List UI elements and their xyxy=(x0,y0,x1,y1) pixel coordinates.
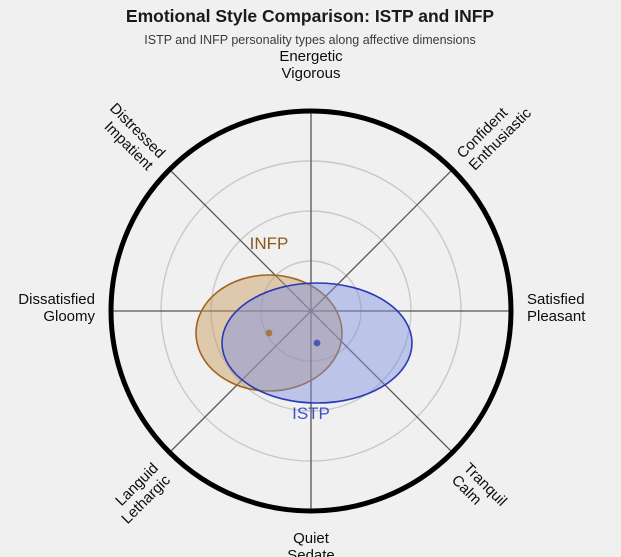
svg-text:SatisfiedPleasant: SatisfiedPleasant xyxy=(527,291,586,325)
centroid-dot-infp xyxy=(266,330,273,337)
emotion-circumplex-chart: Emotional Style Comparison: ISTP and INF… xyxy=(0,0,621,557)
axis-label-quiet-sedate: QuietSedate xyxy=(287,530,335,557)
series-label-istp: ISTP xyxy=(292,404,330,423)
axis-label-line2: Vigorous xyxy=(282,65,341,82)
axis-label-line1: Quiet xyxy=(293,530,330,547)
series-label-infp: INFP xyxy=(250,234,289,253)
svg-text:QuietSedate: QuietSedate xyxy=(287,530,335,557)
page-subtitle: ISTP and INFP personality types along af… xyxy=(144,33,475,47)
axis-label-energetic-vigorous: EnergeticVigorous xyxy=(279,48,343,82)
axis-label-line2: Pleasant xyxy=(527,308,586,325)
axis-label-line1: Energetic xyxy=(279,48,343,65)
svg-text:EnergeticVigorous: EnergeticVigorous xyxy=(279,48,343,82)
axis-label-line1: Satisfied xyxy=(527,291,585,308)
page-title: Emotional Style Comparison: ISTP and INF… xyxy=(126,6,495,26)
axis-label-satisfied-pleasant: SatisfiedPleasant xyxy=(527,291,586,325)
axis-label-line2: Gloomy xyxy=(43,308,95,325)
axis-label-line2: Sedate xyxy=(287,547,335,557)
axis-label-line1: Dissatisfied xyxy=(18,291,95,308)
centroid-dot-istp xyxy=(314,340,321,347)
